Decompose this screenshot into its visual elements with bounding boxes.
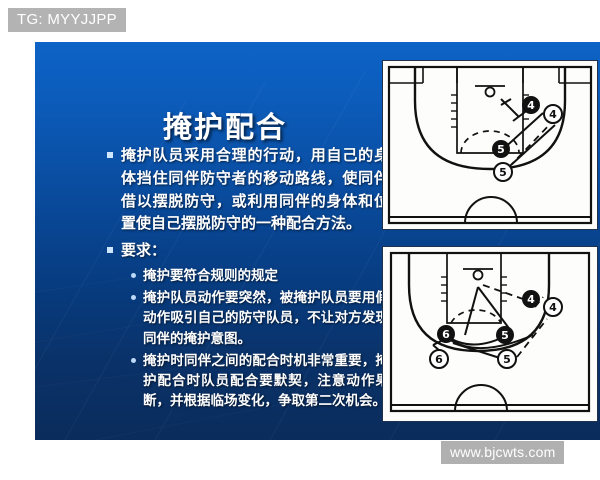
svg-text:5: 5 (503, 353, 511, 366)
svg-text:4: 4 (527, 99, 535, 112)
sub-bullet-text: 掩护时同伴之间的配合时机非常重要，掩护配合时队员配合要默契，注意动作果断，并根据… (143, 351, 389, 412)
svg-text:6: 6 (442, 328, 450, 341)
sub-bullet-item: 掩护时同伴之间的配合时机非常重要，掩护配合时队员配合要默契，注意动作果断，并根据… (131, 351, 389, 412)
half-court-diagram-1: 4 4 5 5 (382, 60, 598, 230)
square-bullet-icon (107, 247, 113, 253)
dot-bullet-icon (131, 273, 136, 278)
svg-text:5: 5 (499, 166, 507, 179)
sub-bullet-text: 掩护队员动作要突然，被掩护队员要用假动作吸引自己的防守队员，不让对方发现同伴的掩… (143, 288, 389, 349)
bullet-text: 掩护队员采用合理的行动，用自己的身体挡住同伴防守者的移动路线，使同伴借以摆脱防守… (121, 144, 389, 235)
half-court-diagram-2: 4 4 5 5 6 6 (382, 246, 598, 422)
slide-body: 掩护队员采用合理的行动，用自己的身体挡住同伴防守者的移动路线，使同伴借以摆脱防守… (107, 144, 389, 414)
watermark-top: TG: MYYJJPP (8, 8, 126, 32)
svg-text:4: 4 (549, 301, 557, 314)
sub-bullet-item: 掩护队员动作要突然，被掩护队员要用假动作吸引自己的防守队员，不让对方发现同伴的掩… (131, 288, 389, 349)
bullet-text: 要求： (121, 239, 389, 262)
slide-title: 掩护配合 (35, 104, 415, 146)
sub-bullet-item: 掩护要符合规则的规定 (131, 266, 389, 286)
svg-text:5: 5 (497, 143, 505, 156)
bullet-item: 掩护队员采用合理的行动，用自己的身体挡住同伴防守者的移动路线，使同伴借以摆脱防守… (107, 144, 389, 235)
sub-bullet-list: 掩护要符合规则的规定 掩护队员动作要突然，被掩护队员要用假动作吸引自己的防守队员… (131, 266, 389, 412)
svg-text:4: 4 (549, 108, 557, 121)
svg-text:5: 5 (501, 329, 509, 342)
watermark-bottom: www.bjcwts.com (441, 441, 564, 464)
bullet-item: 要求： (107, 239, 389, 262)
square-bullet-icon (107, 152, 113, 158)
svg-text:6: 6 (435, 353, 443, 366)
presentation-slide: 掩护配合 掩护队员采用合理的行动，用自己的身体挡住同伴防守者的移动路线，使同伴借… (35, 42, 600, 440)
dot-bullet-icon (131, 295, 136, 300)
svg-text:4: 4 (527, 293, 535, 306)
sub-bullet-text: 掩护要符合规则的规定 (143, 266, 389, 286)
dot-bullet-icon (131, 358, 136, 363)
